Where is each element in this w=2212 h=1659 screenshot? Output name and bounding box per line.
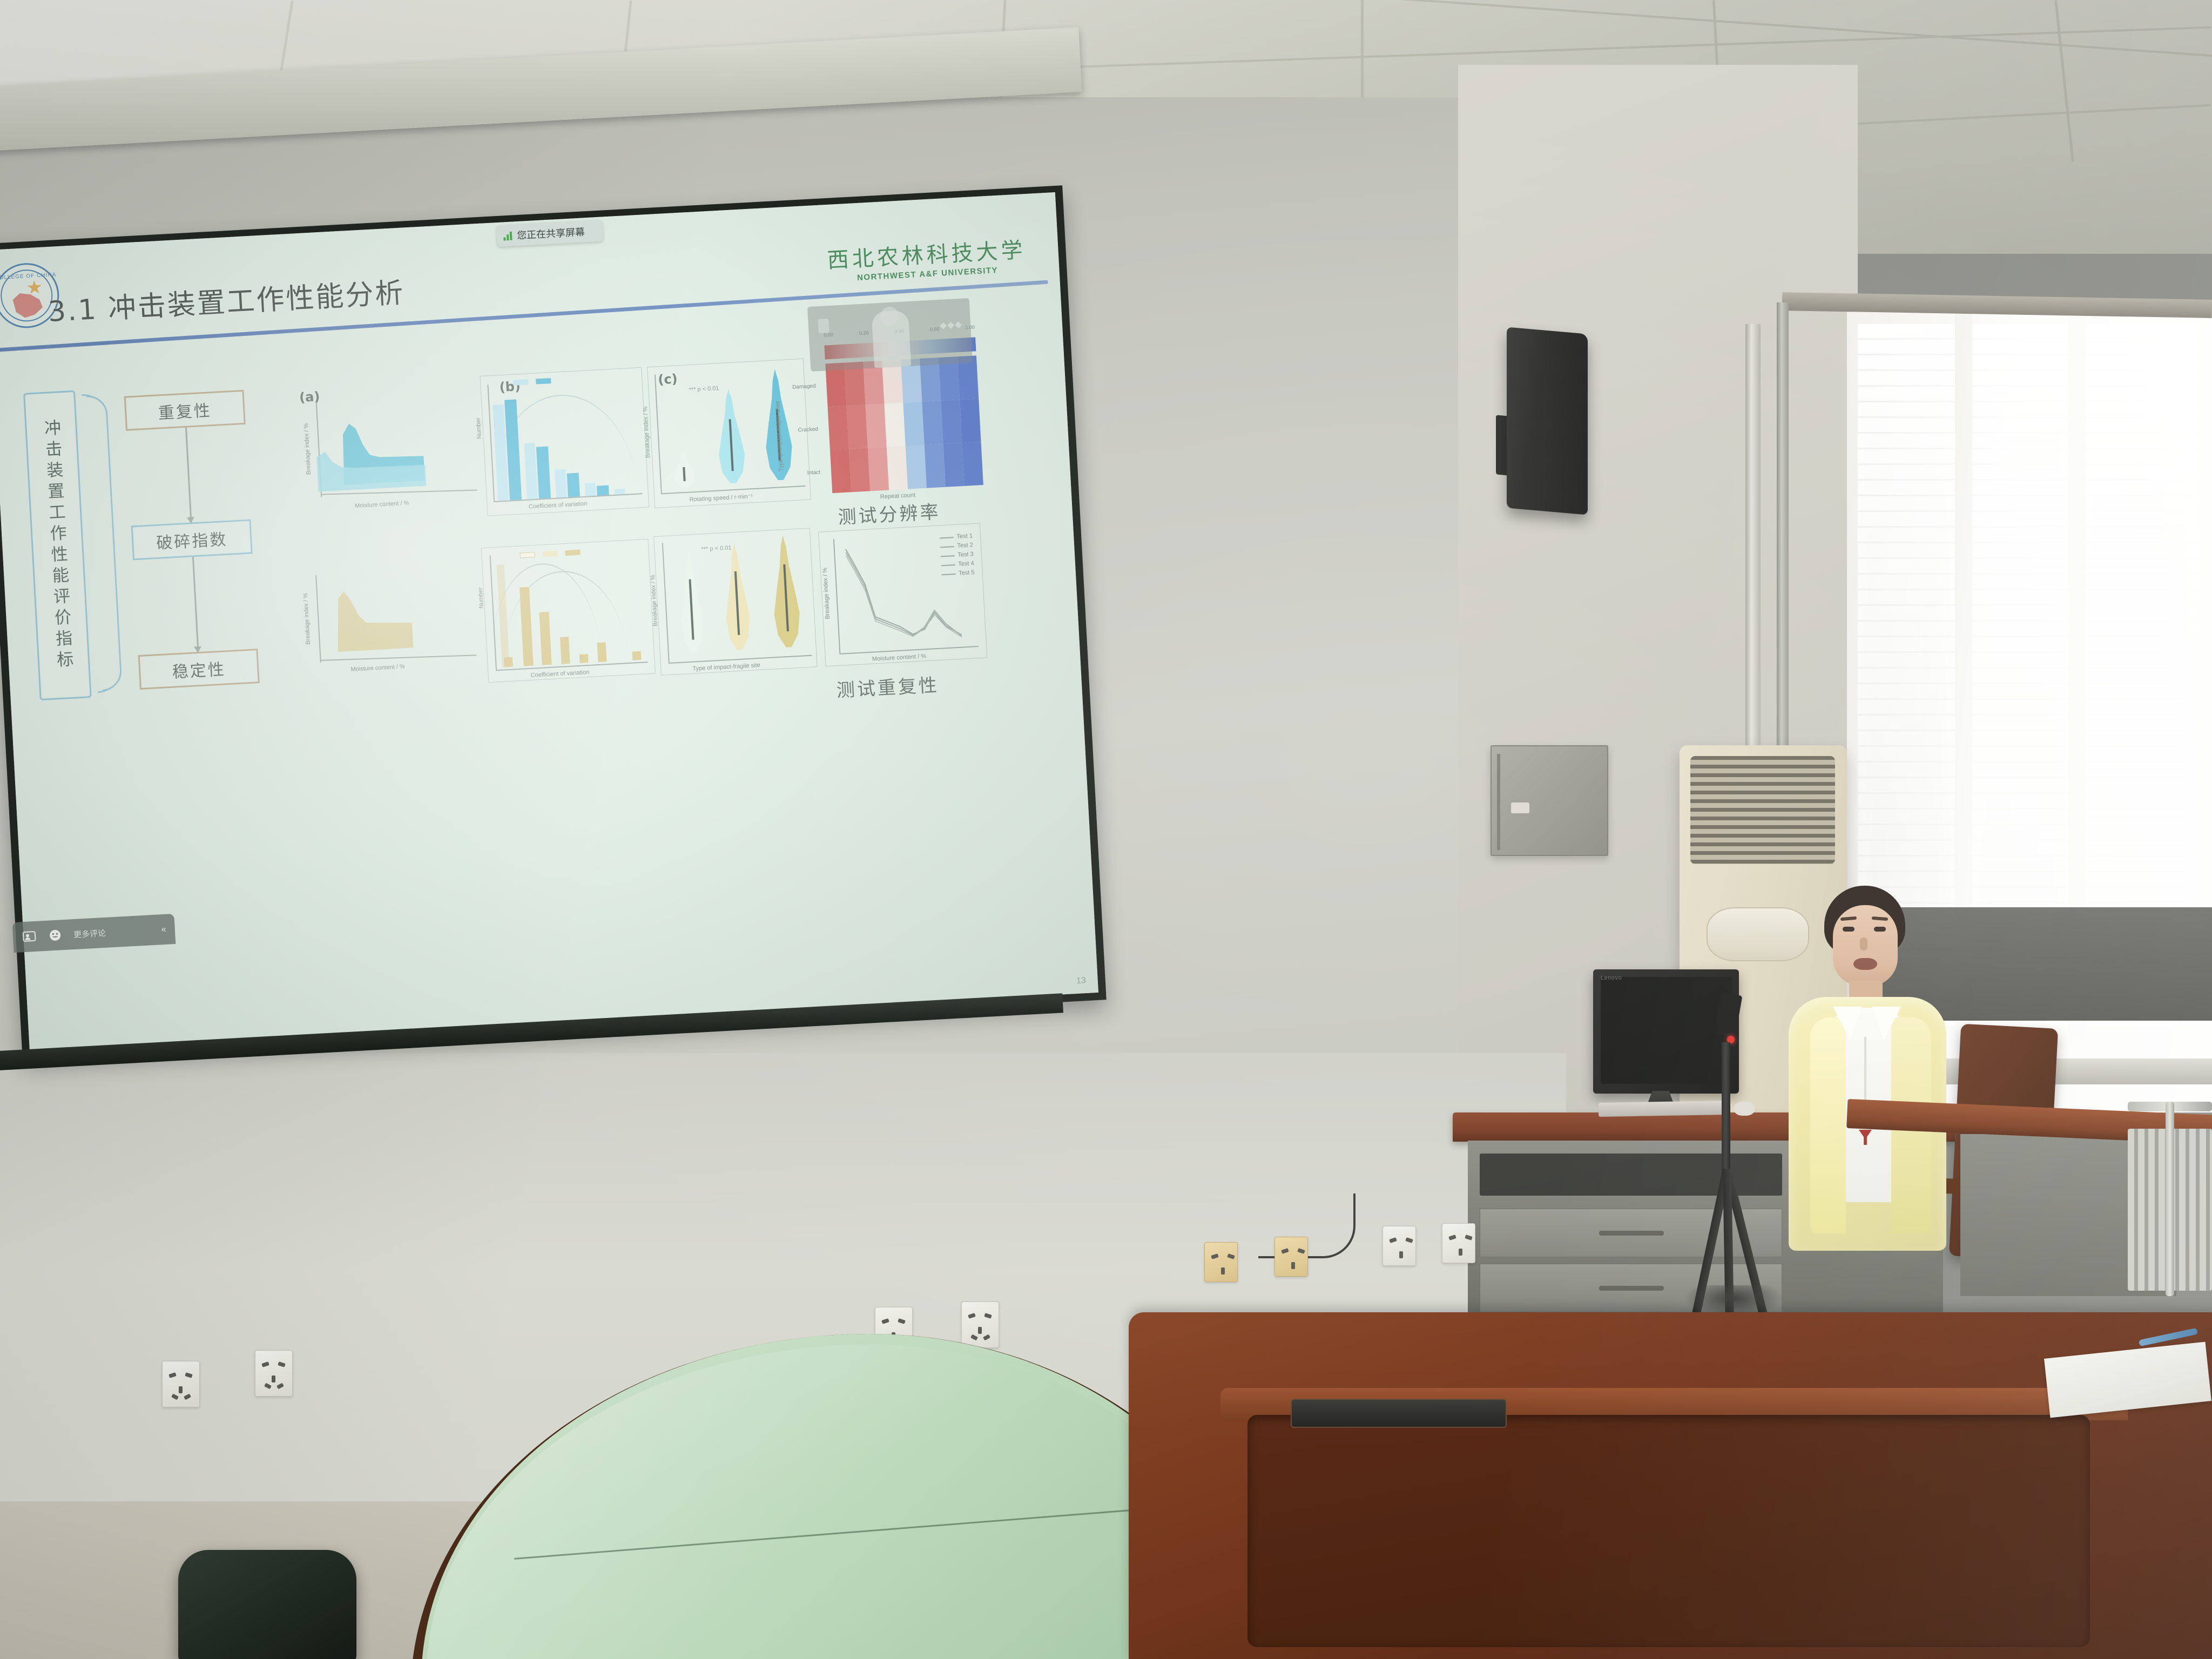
air-conditioner-grille [1690, 756, 1835, 864]
heatmap-cell [849, 448, 870, 492]
monitor-brand-label: Lenovo [1601, 975, 1622, 981]
power-outlet[interactable] [255, 1350, 293, 1397]
chart-panel-repeatability: Test 1 Test 2 Test 3 Test 4 Test 5 [818, 523, 987, 666]
flowchart-arrow [185, 428, 192, 523]
heatmap-cell [925, 444, 946, 488]
chart-panel-f: *** p < 0.01 Breakage index / % Type of … [653, 528, 818, 676]
radiator-pipe-vertical [2166, 1102, 2174, 1296]
conference-room-scene: COLLEGE OF CHINA ★ 3.1 冲击装置工作性能分析 西北农林科技… [0, 0, 2212, 1659]
panel-b-ylabel: Number [475, 417, 483, 439]
bar [585, 483, 596, 496]
foreground-office-chair[interactable] [178, 1550, 356, 1659]
heatmap-cell [828, 406, 849, 450]
presenter-jacket-lapel [1810, 1017, 1846, 1233]
panel-d-xlabel: Moisture content / % [350, 663, 405, 672]
repeatability-line-svg [819, 523, 988, 667]
access-panel-hinge [1497, 754, 1500, 850]
panel-f-x-axis [669, 655, 812, 664]
bar [504, 657, 513, 667]
heatmap-cell [906, 445, 927, 489]
tripod-center-column [1722, 1042, 1730, 1183]
presenter-nose [1860, 938, 1867, 950]
panel-f-xlabel: Type of impact-fragile site [692, 662, 760, 672]
panel-d-ylabel: Breakage index / % [302, 593, 312, 645]
flowchart-main-label: 冲击装置工作性能评价指标 [38, 419, 76, 672]
bar [560, 637, 570, 664]
chart-panel-e: Number Coefficient of variation [481, 539, 656, 683]
heatmap-cell [941, 400, 962, 444]
self-view-video-tile[interactable] [807, 298, 973, 372]
panel-a-series-lower [316, 444, 427, 492]
flowchart-node-breakage-index: 破碎指数 [131, 519, 253, 560]
violin-oblique [760, 534, 811, 652]
presenter-eye [1843, 927, 1854, 932]
panel-a-label: (a) [299, 389, 320, 405]
heatmap-cell [865, 404, 886, 448]
power-outlet[interactable] [961, 1301, 999, 1348]
power-outlet[interactable] [1442, 1223, 1475, 1263]
power-outlet[interactable] [1382, 1226, 1416, 1266]
video-tile-badge [818, 319, 829, 333]
heatmap-row-label: Cracked [788, 426, 819, 434]
drawer-handle[interactable] [1599, 1231, 1664, 1236]
heatmap-cell [962, 442, 983, 486]
slide-title: 3.1 冲击装置工作性能分析 [47, 270, 406, 330]
toolbar-label: 更多评论 [73, 925, 150, 940]
panel-c-y-axis [655, 375, 662, 494]
heatmap-cell [847, 405, 868, 449]
heatmap-cell [868, 447, 889, 491]
panel-b-legend [513, 378, 551, 387]
heatmap-row-label: Damaged [785, 383, 816, 390]
violin-straight [669, 549, 713, 657]
university-logo: 西北农林科技大学 NORTHWEST A&F UNIVERSITY [827, 238, 1027, 284]
panel-d-series [335, 585, 414, 652]
violin-curved [713, 542, 761, 655]
slide-page-number: 13 [1076, 976, 1087, 986]
heatmap-row-label: Intact [790, 469, 821, 477]
caption-test-repeatability: 测试重复性 [836, 670, 940, 702]
video-participant-icon[interactable] [23, 931, 37, 942]
panel-a-ylabel: Breakage index / % [303, 423, 312, 475]
chart-panel-a: (a) Breakage index / % Moisture content … [296, 381, 482, 525]
flowchart-node-stability: 稳定性 [138, 649, 260, 690]
evaluation-index-flowchart: 冲击装置工作性能评价指标 重复性 破碎指数 稳定性 [10, 368, 298, 717]
panel-b-xlabel: Coefficient of variation [528, 501, 587, 510]
table-cable-port[interactable] [1291, 1399, 1507, 1428]
legend-swatch [536, 378, 551, 384]
heatmap-cell-grid [825, 355, 983, 493]
legend-swatch [542, 551, 557, 557]
panel-b-y-axis [487, 385, 495, 501]
power-outlet[interactable] [162, 1361, 200, 1407]
video-tile-indicator-icon [941, 322, 961, 328]
panel-e-ylabel: Number [477, 587, 485, 609]
flowchart-arrow [192, 557, 199, 652]
heatmap-cell [884, 403, 905, 447]
drawer-handle[interactable] [1599, 1286, 1664, 1291]
bar [632, 651, 642, 660]
panel-a-xlabel: Moisture content / % [355, 500, 409, 509]
seated-presenter [1777, 886, 1955, 1274]
flowchart-main-box: 冲击装置工作性能评价指标 [23, 390, 92, 700]
monitor-screen [1601, 977, 1732, 1084]
keyboard[interactable] [1599, 1101, 1728, 1117]
panel-d-x-axis [320, 655, 477, 661]
panel-c-label: (c) [658, 371, 678, 387]
panel-d-y-axis [315, 575, 321, 663]
mouse[interactable] [1734, 1102, 1755, 1116]
heatmap-cell [903, 402, 924, 446]
bar [579, 654, 589, 663]
heatmap-row-labels: Damaged Cracked Intact [784, 365, 821, 496]
bar [555, 469, 567, 498]
violin-500 [705, 388, 757, 487]
conference-table-inner-well [1247, 1415, 2090, 1647]
power-outlet-yellow[interactable] [1204, 1242, 1238, 1282]
heatmap-cell [830, 449, 851, 493]
bar [567, 473, 580, 497]
presenter-eye [1874, 927, 1886, 932]
legend-swatch [520, 552, 535, 558]
panel-e-xlabel: Coefficient of variation [530, 669, 589, 679]
smiley-face-icon[interactable] [48, 928, 62, 942]
panel-f-y-axis [662, 543, 670, 663]
wall-access-panel[interactable] [1491, 745, 1608, 856]
share-banner-label: 您正在共享屏幕 [516, 225, 585, 242]
wall-speaker [1507, 327, 1588, 515]
legend-swatch [513, 379, 528, 385]
panel-c-xlabel: Rotating speed / r·min⁻¹ [689, 493, 753, 503]
presenter-mouth [1853, 958, 1877, 970]
heatmap-cell [943, 443, 965, 487]
caption-test-resolution: 测试分辨率 [837, 497, 941, 529]
podium-open-shelf [1480, 1154, 1782, 1196]
access-panel-latch[interactable] [1511, 802, 1529, 813]
power-outlet-yellow[interactable] [1274, 1237, 1308, 1277]
heatmap-cell [960, 399, 981, 443]
bar [597, 485, 609, 496]
wall-pipe-secondary [1777, 302, 1789, 788]
violin-350 [664, 450, 704, 490]
heatmap-cell [922, 401, 943, 445]
panel-e-legend [520, 550, 581, 560]
flowchart-node-repeatability: 重复性 [124, 390, 246, 431]
double-chevron-left-icon[interactable]: ‹‹ [161, 924, 165, 935]
signal-bars-icon [503, 231, 512, 240]
chart-panel-d: Breakage index / % Moisture content / % [295, 554, 485, 687]
heatmap-cell [887, 446, 908, 490]
chart-panel-b: (b) [480, 367, 650, 516]
resolution-heatmap: 0.00 0.20 0.40 0.60 1.00 Damaged Cracked… [814, 352, 983, 496]
bar [597, 642, 607, 662]
legend-swatch [565, 550, 580, 556]
